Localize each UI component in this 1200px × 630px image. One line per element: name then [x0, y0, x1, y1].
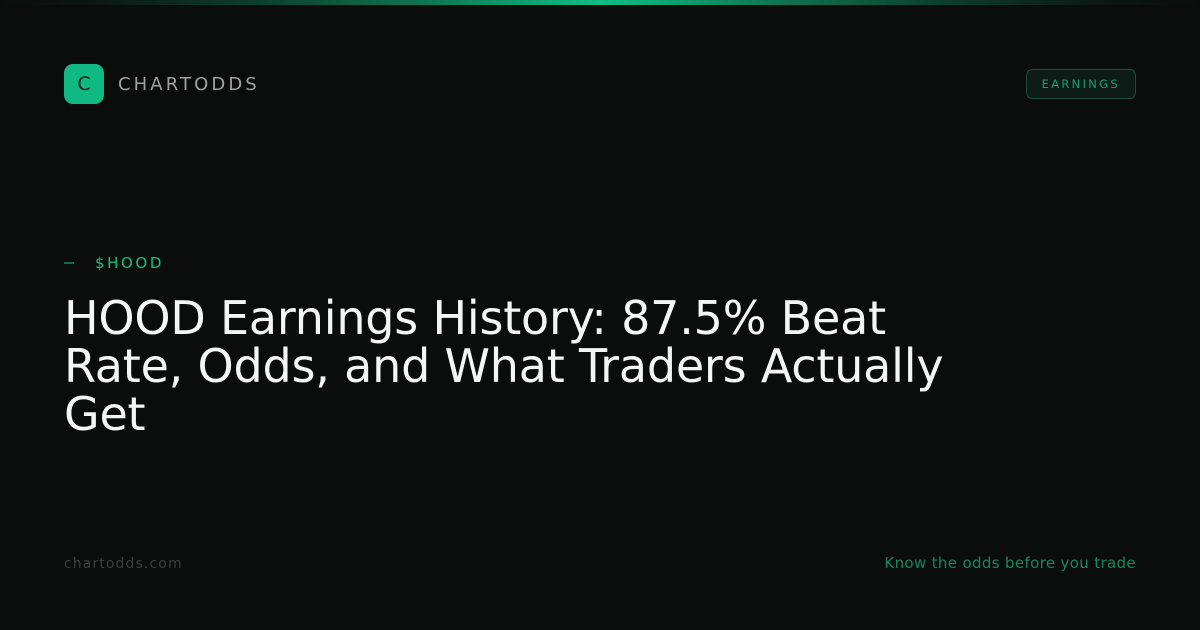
tagline: Know the odds before you trade [884, 554, 1136, 572]
page-title: HOOD Earnings History: 87.5% Beat Rate, … [64, 294, 944, 438]
og-card: C CHARTODDS EARNINGS $HOOD HOOD Earnings… [0, 0, 1200, 630]
top-accent-bar [0, 0, 1200, 5]
eyebrow: $HOOD [64, 252, 1074, 274]
ticker-label: $HOOD [95, 254, 164, 272]
card-header: C CHARTODDS EARNINGS [64, 62, 1136, 106]
category-badge: EARNINGS [1026, 69, 1136, 99]
logo-badge-icon: C [64, 64, 104, 104]
site-url: chartodds.com [64, 556, 183, 572]
brand-lockup[interactable]: C CHARTODDS [64, 64, 260, 104]
card-main: $HOOD HOOD Earnings History: 87.5% Beat … [64, 252, 1074, 438]
brand-wordmark: CHARTODDS [118, 74, 260, 95]
dash-icon [64, 262, 74, 264]
card-footer: chartodds.com Know the odds before you t… [64, 554, 1136, 572]
